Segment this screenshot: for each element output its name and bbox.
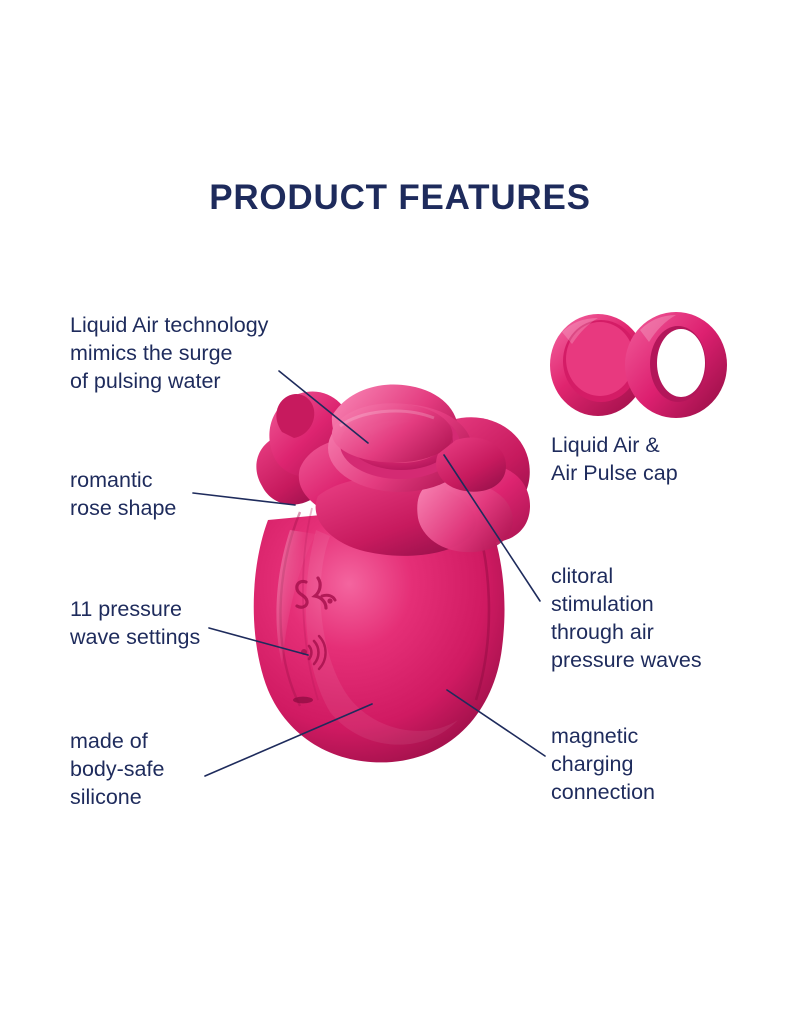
callout-romantic-rose-shape: romantic rose shape [70,466,320,522]
leader-lines [193,371,545,776]
leader-line-charging [447,690,545,756]
callout-liquid-air-technology: Liquid Air technology mimics the surge o… [70,311,345,395]
callout-liquid-air-and-air-pulse-cap: Liquid Air & Air Pulse cap [551,431,796,487]
cap-rim [328,404,472,492]
accessory-caps [550,312,727,418]
magnetic-charging-port-emboss [293,697,313,704]
leader-line-clitoral [444,455,540,601]
callout-body-safe-silicone: made of body-safe silicone [70,727,320,811]
infographic-canvas: PRODUCT FEATURES [0,0,800,1016]
liquid-air-cap-disc [550,314,646,416]
callout-magnetic-charging-connection: magnetic charging connection [551,722,796,806]
rose-product [254,384,530,762]
page-title: PRODUCT FEATURES [0,178,800,218]
air-pulse-cap-ring [625,312,727,418]
callout-clitoral-stimulation: clitoral stimulation through air pressur… [551,562,800,674]
callout-pressure-wave-settings: 11 pressure wave settings [70,595,320,651]
